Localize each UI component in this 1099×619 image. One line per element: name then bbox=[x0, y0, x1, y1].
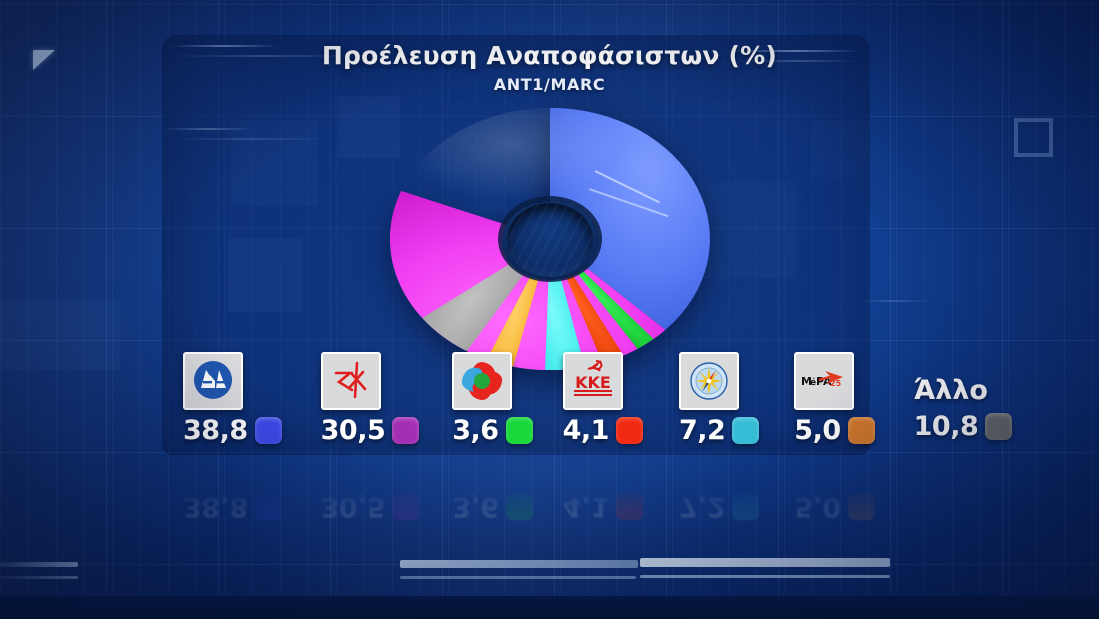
broadcast-graphic: Προέλευση Αναποφάσιστων (%) ANT1/MARC bbox=[0, 0, 1099, 619]
vignette bbox=[0, 0, 1099, 619]
